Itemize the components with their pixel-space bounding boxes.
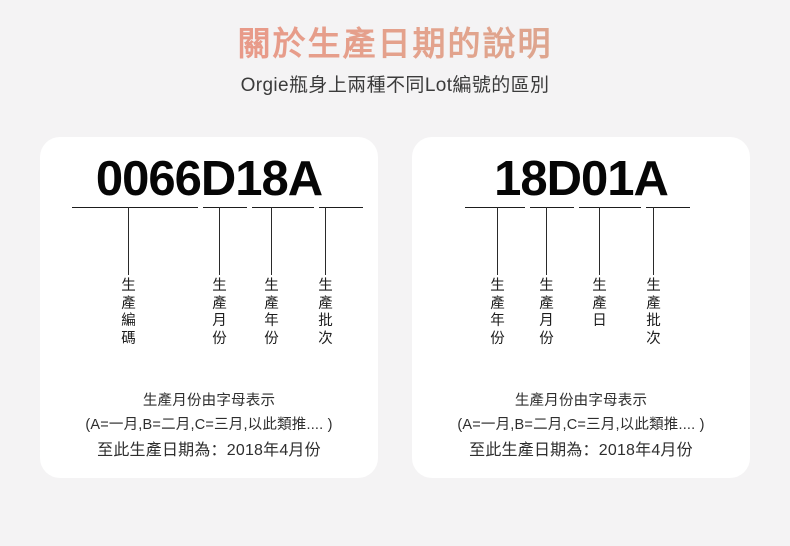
segment-label-char: 碼: [120, 331, 137, 349]
segment-label-char: 月: [538, 313, 555, 331]
segment-underline-3: [579, 207, 641, 208]
segment-underline-2: [530, 207, 574, 208]
segment-label-char: 產: [263, 296, 280, 314]
card-notes-right: 生產月份由字母表示 (A=一月,B=二月,C=三月,以此類推.... ) 至此生…: [412, 389, 750, 464]
page-subtitle: Orgie瓶身上兩種不同Lot編號的區別: [0, 73, 790, 99]
segment-label-char: 生: [120, 278, 137, 296]
segment-label-2: 生 產 月 份: [538, 278, 555, 348]
code-diagram-left: 0066D18A 生 產 編 碼: [40, 137, 378, 369]
segment-annotation-layer-left: 生 產 編 碼 生 產 月 份 生 產 年 份 生: [40, 137, 378, 369]
segment-underline-2: [203, 207, 247, 208]
segment-label-char: 生: [263, 278, 280, 296]
segment-label-4: 生 產 批 次: [317, 278, 334, 348]
segment-label-char: 產: [489, 296, 506, 314]
segment-dropline-1: [128, 207, 129, 275]
segment-annotation-layer-right: 生 產 年 份 生 產 月 份 生 產 日 生: [412, 137, 750, 369]
note-line-3: 至此生產日期為：2018年4月份: [412, 437, 750, 464]
segment-label-4: 生 產 批 次: [645, 278, 662, 348]
segment-label-char: 生: [211, 278, 228, 296]
segment-label-char: 產: [591, 296, 608, 314]
segment-label-char: 編: [120, 313, 137, 331]
segment-label-2: 生 產 月 份: [211, 278, 228, 348]
segment-label-char: 產: [317, 296, 334, 314]
segment-label-char: 份: [538, 331, 555, 349]
page-header: 關於生產日期的說明 Orgie瓶身上兩種不同Lot編號的區別: [0, 0, 790, 99]
segment-dropline-1: [497, 207, 498, 275]
lot-code-card-left: 0066D18A 生 產 編 碼: [40, 137, 378, 478]
segment-label-char: 生: [538, 278, 555, 296]
card-notes-left: 生產月份由字母表示 (A=一月,B=二月,C=三月,以此類推.... ) 至此生…: [40, 389, 378, 464]
segment-label-char: 次: [317, 331, 334, 349]
segment-label-char: 年: [489, 313, 506, 331]
segment-label-3: 生 產 年 份: [263, 278, 280, 348]
cards-container: 0066D18A 生 產 編 碼: [0, 137, 790, 478]
segment-dropline-4: [653, 207, 654, 275]
segment-label-char: 年: [263, 313, 280, 331]
page-title: 關於生產日期的說明: [0, 22, 790, 66]
segment-dropline-2: [546, 207, 547, 275]
segment-underline-1: [465, 207, 525, 208]
segment-label-3: 生 產 日: [591, 278, 608, 331]
segment-label-1: 生 產 年 份: [489, 278, 506, 348]
segment-label-char: 生: [645, 278, 662, 296]
segment-dropline-2: [219, 207, 220, 275]
segment-label-char: 月: [211, 313, 228, 331]
segment-label-char: 生: [317, 278, 334, 296]
segment-label-char: 份: [489, 331, 506, 349]
segment-label-char: 份: [263, 331, 280, 349]
segment-label-1: 生 產 編 碼: [120, 278, 137, 348]
segment-label-char: 份: [211, 331, 228, 349]
segment-label-char: 生: [489, 278, 506, 296]
segment-label-char: 生: [591, 278, 608, 296]
segment-label-char: 產: [211, 296, 228, 314]
note-line-1: 生產月份由字母表示: [40, 389, 378, 413]
segment-dropline-3: [271, 207, 272, 275]
segment-dropline-4: [325, 207, 326, 275]
segment-label-char: 產: [120, 296, 137, 314]
segment-label-char: 產: [645, 296, 662, 314]
segment-underline-3: [252, 207, 314, 208]
note-line-2: (A=一月,B=二月,C=三月,以此類推.... ): [40, 413, 378, 437]
note-line-3: 至此生產日期為：2018年4月份: [40, 437, 378, 464]
segment-label-char: 批: [317, 313, 334, 331]
note-line-2: (A=一月,B=二月,C=三月,以此類推.... ): [412, 413, 750, 437]
segment-label-char: 產: [538, 296, 555, 314]
segment-dropline-3: [599, 207, 600, 275]
segment-underline-1: [72, 207, 198, 208]
segment-label-char: 次: [645, 331, 662, 349]
segment-label-char: 日: [591, 313, 608, 331]
lot-code-card-right: 18D01A 生 產 年 份 生: [412, 137, 750, 478]
code-diagram-right: 18D01A 生 產 年 份 生: [412, 137, 750, 369]
segment-label-char: 批: [645, 313, 662, 331]
note-line-1: 生產月份由字母表示: [412, 389, 750, 413]
